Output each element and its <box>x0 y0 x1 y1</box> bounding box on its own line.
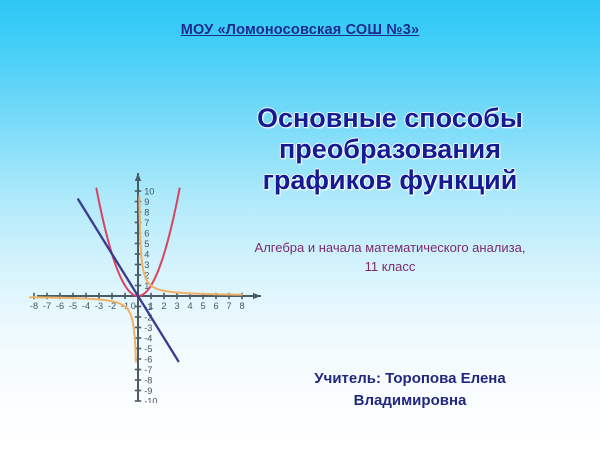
teacher-line-2: Владимировна <box>250 390 570 412</box>
title-line-3: графиков функций <box>215 165 565 196</box>
y-tick-label: -4 <box>144 333 152 343</box>
y-tick-label: 5 <box>144 239 149 249</box>
x-tick-label: 6 <box>213 301 218 311</box>
x-tick-label: -5 <box>69 301 77 311</box>
y-tick-label: -6 <box>144 354 152 364</box>
x-tick-label: 8 <box>239 301 244 311</box>
y-tick-label: 8 <box>144 207 149 217</box>
x-tick-label: -3 <box>95 301 103 311</box>
subtitle-line-2: 11 класс <box>200 257 580 276</box>
x-tick-label: -8 <box>30 301 38 311</box>
y-tick-label: 3 <box>144 260 149 270</box>
y-tick-label: -7 <box>144 365 152 375</box>
y-tick-label: 4 <box>144 249 149 259</box>
teacher-line-1: Учитель: Торопова Елена <box>250 368 570 390</box>
x-tick-label: 4 <box>187 301 192 311</box>
y-tick-label: -8 <box>144 375 152 385</box>
x-tick-label: 7 <box>226 301 231 311</box>
subtitle: Алгебра и начала математического анализа… <box>200 238 580 276</box>
x-tick-label: -6 <box>56 301 64 311</box>
y-tick-label: -5 <box>144 344 152 354</box>
x-tick-label: 5 <box>200 301 205 311</box>
y-tick-label: 6 <box>144 228 149 238</box>
presentation-slide: МОУ «Ломоносовская СОШ №3» -8-7-6-5-4-3-… <box>0 0 600 450</box>
curve-linear <box>78 199 178 361</box>
page-title: Основные способы преобразования графиков… <box>215 103 565 196</box>
x-tick-label: 2 <box>161 301 166 311</box>
teacher-credit: Учитель: Торопова Елена Владимировна <box>250 368 570 412</box>
y-tick-label: -9 <box>144 386 152 396</box>
title-line-1: Основные способы <box>215 103 565 134</box>
x-tick-label: -7 <box>43 301 51 311</box>
y-tick-label: -10 <box>144 396 157 403</box>
y-tick-label: 9 <box>144 197 149 207</box>
y-tick-label: -3 <box>144 323 152 333</box>
school-header: МОУ «Ломоносовская СОШ №3» <box>0 22 600 38</box>
subtitle-line-1: Алгебра и начала математического анализа… <box>200 238 580 257</box>
x-tick-label: -4 <box>82 301 90 311</box>
x-axis-arrow-icon <box>253 293 261 299</box>
coordinate-plane-svg: -8-7-6-5-4-3-2-1123456780 -10-9-8-7-6-5-… <box>25 163 275 403</box>
y-tick-label: 10 <box>144 186 154 196</box>
title-line-2: преобразования <box>215 134 565 165</box>
function-graph-figure: -8-7-6-5-4-3-2-1123456780 -10-9-8-7-6-5-… <box>25 163 275 403</box>
y-tick-label: 7 <box>144 218 149 228</box>
x-tick-label: 3 <box>174 301 179 311</box>
y-axis-arrow-icon <box>135 173 141 181</box>
